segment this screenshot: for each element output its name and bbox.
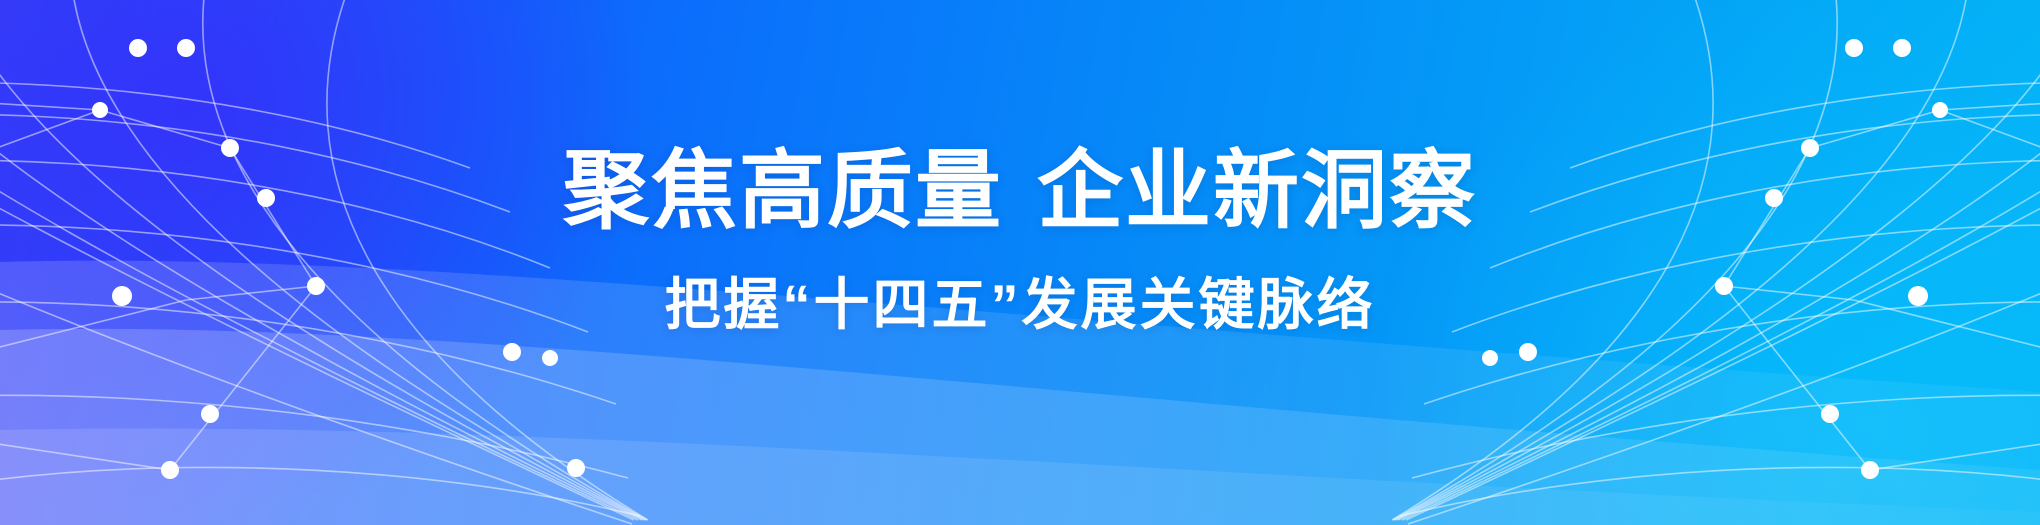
banner-copy: 聚焦高质量企业新洞察 把握“十四五”发展关键脉络 — [0, 148, 2040, 333]
promo-banner: 聚焦高质量企业新洞察 把握“十四五”发展关键脉络 — [0, 0, 2040, 525]
banner-subheadline: 把握“十四五”发展关键脉络 — [0, 277, 2040, 333]
headline-segment-1: 聚焦高质量 — [563, 143, 1003, 239]
banner-headline: 聚焦高质量企业新洞察 — [0, 148, 2040, 234]
headline-segment-2: 企业新洞察 — [1037, 143, 1477, 239]
